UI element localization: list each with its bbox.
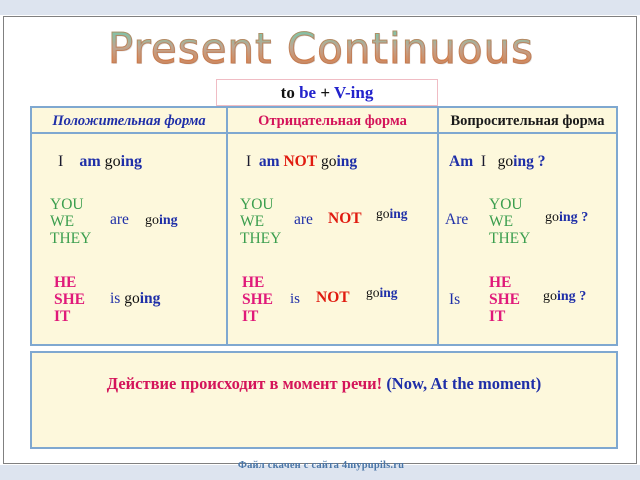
que-row2-subject-you: YOU — [489, 196, 530, 213]
neg-row2-not: NOT — [328, 211, 362, 227]
aff-row3-subjects: HE SHE IT — [54, 274, 85, 325]
neg-row2-verb: going — [376, 207, 408, 221]
neg-row2-verb-end: ing — [390, 206, 408, 221]
neg-row3-verb: going — [366, 286, 398, 300]
column-body-negative: I am NOT going YOU WE THEY are NOT going… — [228, 134, 437, 344]
que-row1-aux: Am — [449, 153, 473, 170]
aff-row1-verb-stem: go — [105, 153, 121, 170]
formula-text: to be + V-ing — [281, 83, 374, 103]
neg-row1-verb-end: ing — [336, 153, 357, 170]
aff-row3-verb-stem: go — [124, 290, 140, 307]
page-title: Present Continuous — [108, 25, 534, 73]
aff-row3-subject-he: HE — [54, 274, 85, 291]
neg-row1-verb-stem: go — [321, 153, 337, 170]
column-affirmative: Положительная форма I am going YOU WE TH… — [32, 108, 228, 344]
aff-row1: I am going — [58, 154, 142, 171]
column-header-interrogative: Вопросительная форма — [439, 108, 616, 134]
viewer-top-band — [0, 0, 640, 15]
usage-note-russian: Действие происходит в момент речи! — [107, 374, 382, 393]
aff-row1-aux: am — [79, 153, 100, 170]
que-row2-verb-end: ing — [559, 210, 578, 225]
que-row2-aux: Are — [445, 212, 468, 228]
forms-table: Положительная форма I am going YOU WE TH… — [30, 106, 618, 346]
que-row3-verb: going ? — [543, 290, 586, 305]
que-row3-subject-he: HE — [489, 274, 520, 291]
que-row3-subject-it: IT — [489, 308, 520, 325]
column-body-interrogative: Am I going ? Are YOU WE THEY going ? Is … — [439, 134, 616, 344]
usage-note-box: Действие происходит в момент речи! (Now,… — [30, 351, 618, 449]
neg-row2-subject-we: WE — [240, 213, 281, 230]
neg-row1: I am NOT going — [246, 154, 357, 170]
aff-row2-verb: going — [145, 214, 178, 229]
que-row3-subject-she: SHE — [489, 291, 520, 308]
slide-canvas: Present Continuous to be + V-ing Положит… — [3, 16, 637, 464]
neg-row2-aux: are — [294, 212, 313, 228]
aff-row2-subject-you: YOU — [50, 196, 91, 213]
title-area: Present Continuous — [4, 25, 638, 73]
que-row2-verb: going ? — [545, 211, 588, 226]
aff-row2-verb-stem: go — [145, 213, 159, 228]
aff-row2-aux: are — [110, 212, 129, 228]
column-body-affirmative: I am going YOU WE THEY are going HE SHE … — [32, 134, 226, 344]
column-header-affirmative: Положительная форма — [32, 108, 226, 134]
neg-row3-verb-end: ing — [380, 285, 398, 300]
que-row1: Am I going ? — [449, 154, 545, 170]
column-interrogative: Вопросительная форма Am I going ? Are YO… — [439, 108, 616, 344]
que-row3-aux: Is — [449, 292, 460, 308]
aff-row3-predicate: is going — [110, 291, 160, 307]
column-header-negative: Отрицательная форма — [228, 108, 437, 134]
neg-row2-subject-you: YOU — [240, 196, 281, 213]
que-row3-subjects: HE SHE IT — [489, 274, 520, 325]
que-row2-question-mark: ? — [581, 210, 588, 225]
que-row2-subjects: YOU WE THEY — [489, 196, 530, 247]
column-negative: Отрицательная форма I am NOT going YOU W… — [228, 108, 439, 344]
que-row3-verb-stem: go — [543, 289, 557, 304]
que-row2-subject-they: THEY — [489, 230, 530, 247]
aff-row1-verb-end: ing — [121, 153, 142, 170]
que-row2-verb-stem: go — [545, 210, 559, 225]
usage-note-text: Действие происходит в момент речи! (Now,… — [32, 374, 616, 394]
neg-row1-not: NOT — [283, 153, 317, 170]
formula-box: to be + V-ing — [216, 79, 438, 106]
aff-row2-verb-end: ing — [159, 213, 178, 228]
footer-credit: Файл скачен с сайта 4mypupils.ru — [4, 460, 638, 471]
aff-row3-subject-it: IT — [54, 308, 85, 325]
neg-row3-subjects: HE SHE IT — [242, 274, 273, 325]
neg-row3-subject-she: SHE — [242, 291, 273, 308]
usage-note-english: (Now, At the moment) — [386, 374, 541, 393]
formula-ving: V-ing — [334, 83, 373, 102]
que-row1-verb-end: ing — [513, 153, 534, 170]
neg-row1-aux: am — [259, 153, 280, 170]
neg-row3-subject-it: IT — [242, 308, 273, 325]
aff-row2-subject-they: THEY — [50, 230, 91, 247]
que-row1-verb-stem: go — [498, 153, 514, 170]
formula-to: to — [281, 83, 295, 102]
aff-row3-verb-end: ing — [140, 290, 161, 307]
neg-row3-verb-stem: go — [366, 285, 380, 300]
aff-row2-subjects: YOU WE THEY — [50, 196, 91, 247]
que-row3-question-mark: ? — [579, 289, 586, 304]
formula-plus: + — [316, 83, 334, 102]
neg-row3-not: NOT — [316, 290, 350, 306]
aff-row2-subject-we: WE — [50, 213, 91, 230]
neg-row3-aux: is — [290, 292, 300, 308]
neg-row3-subject-he: HE — [242, 274, 273, 291]
aff-row3-subject-she: SHE — [54, 291, 85, 308]
que-row1-question-mark: ? — [538, 153, 546, 170]
que-row2-subject-we: WE — [489, 213, 530, 230]
formula-be: be — [299, 83, 316, 102]
neg-row2-verb-stem: go — [376, 206, 390, 221]
que-row3-verb-end: ing — [557, 289, 576, 304]
neg-row2-subjects: YOU WE THEY — [240, 196, 281, 247]
aff-row3-aux: is — [110, 290, 120, 307]
neg-row2-subject-they: THEY — [240, 230, 281, 247]
